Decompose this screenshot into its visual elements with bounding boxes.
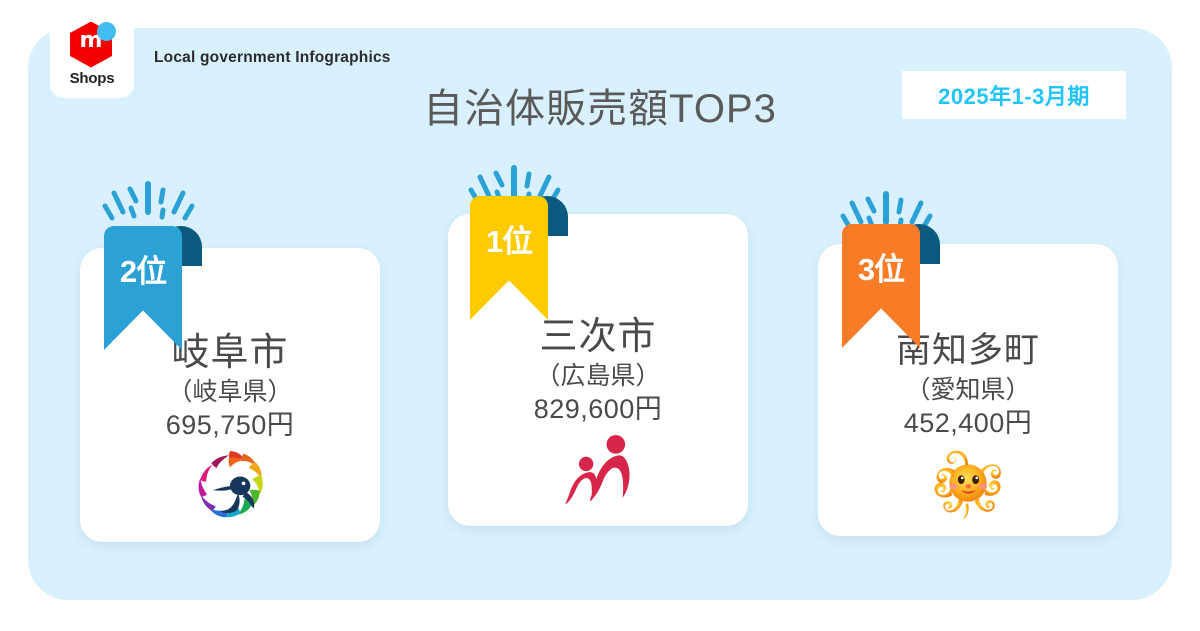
gifu-city-cormorant-logo-icon	[184, 446, 276, 524]
brand-tagline: Local government Infographics	[154, 49, 391, 67]
miyoshi-city-logo-icon	[552, 430, 644, 508]
infographic-canvas: m Shops Local government Infographics 自治…	[0, 0, 1200, 631]
sparkle-icon	[96, 176, 200, 224]
prefecture-name: （愛知県）	[818, 374, 1118, 406]
ranking-card-content: 南知多町 （愛知県） 452,400円	[818, 328, 1118, 522]
hexagon-logo-icon: m	[68, 20, 116, 70]
ranking-card-content: 三次市 （広島県） 829,600円	[448, 314, 748, 508]
rank-ribbon-3: 3位	[842, 224, 928, 354]
sales-amount: 452,400円	[818, 406, 1118, 440]
prefecture-name: （広島県）	[448, 360, 748, 392]
rank-label: 1位	[470, 224, 548, 260]
period-badge: 2025年1-3月期	[902, 71, 1126, 119]
prefecture-name: （岐阜県）	[80, 376, 380, 408]
rank-label: 2位	[104, 254, 182, 290]
ranking-card-content: 岐阜市 （岐阜県） 695,750円	[80, 330, 380, 524]
rank-label: 3位	[842, 252, 920, 288]
sales-amount: 695,750円	[80, 408, 380, 442]
minamichita-octopus-mascot-logo-icon	[922, 444, 1014, 522]
blue-dot-icon	[97, 22, 116, 41]
rank-ribbon-1: 1位	[470, 196, 556, 326]
rank-ribbon-2: 2位	[104, 226, 190, 356]
sales-amount: 829,600円	[448, 392, 748, 426]
